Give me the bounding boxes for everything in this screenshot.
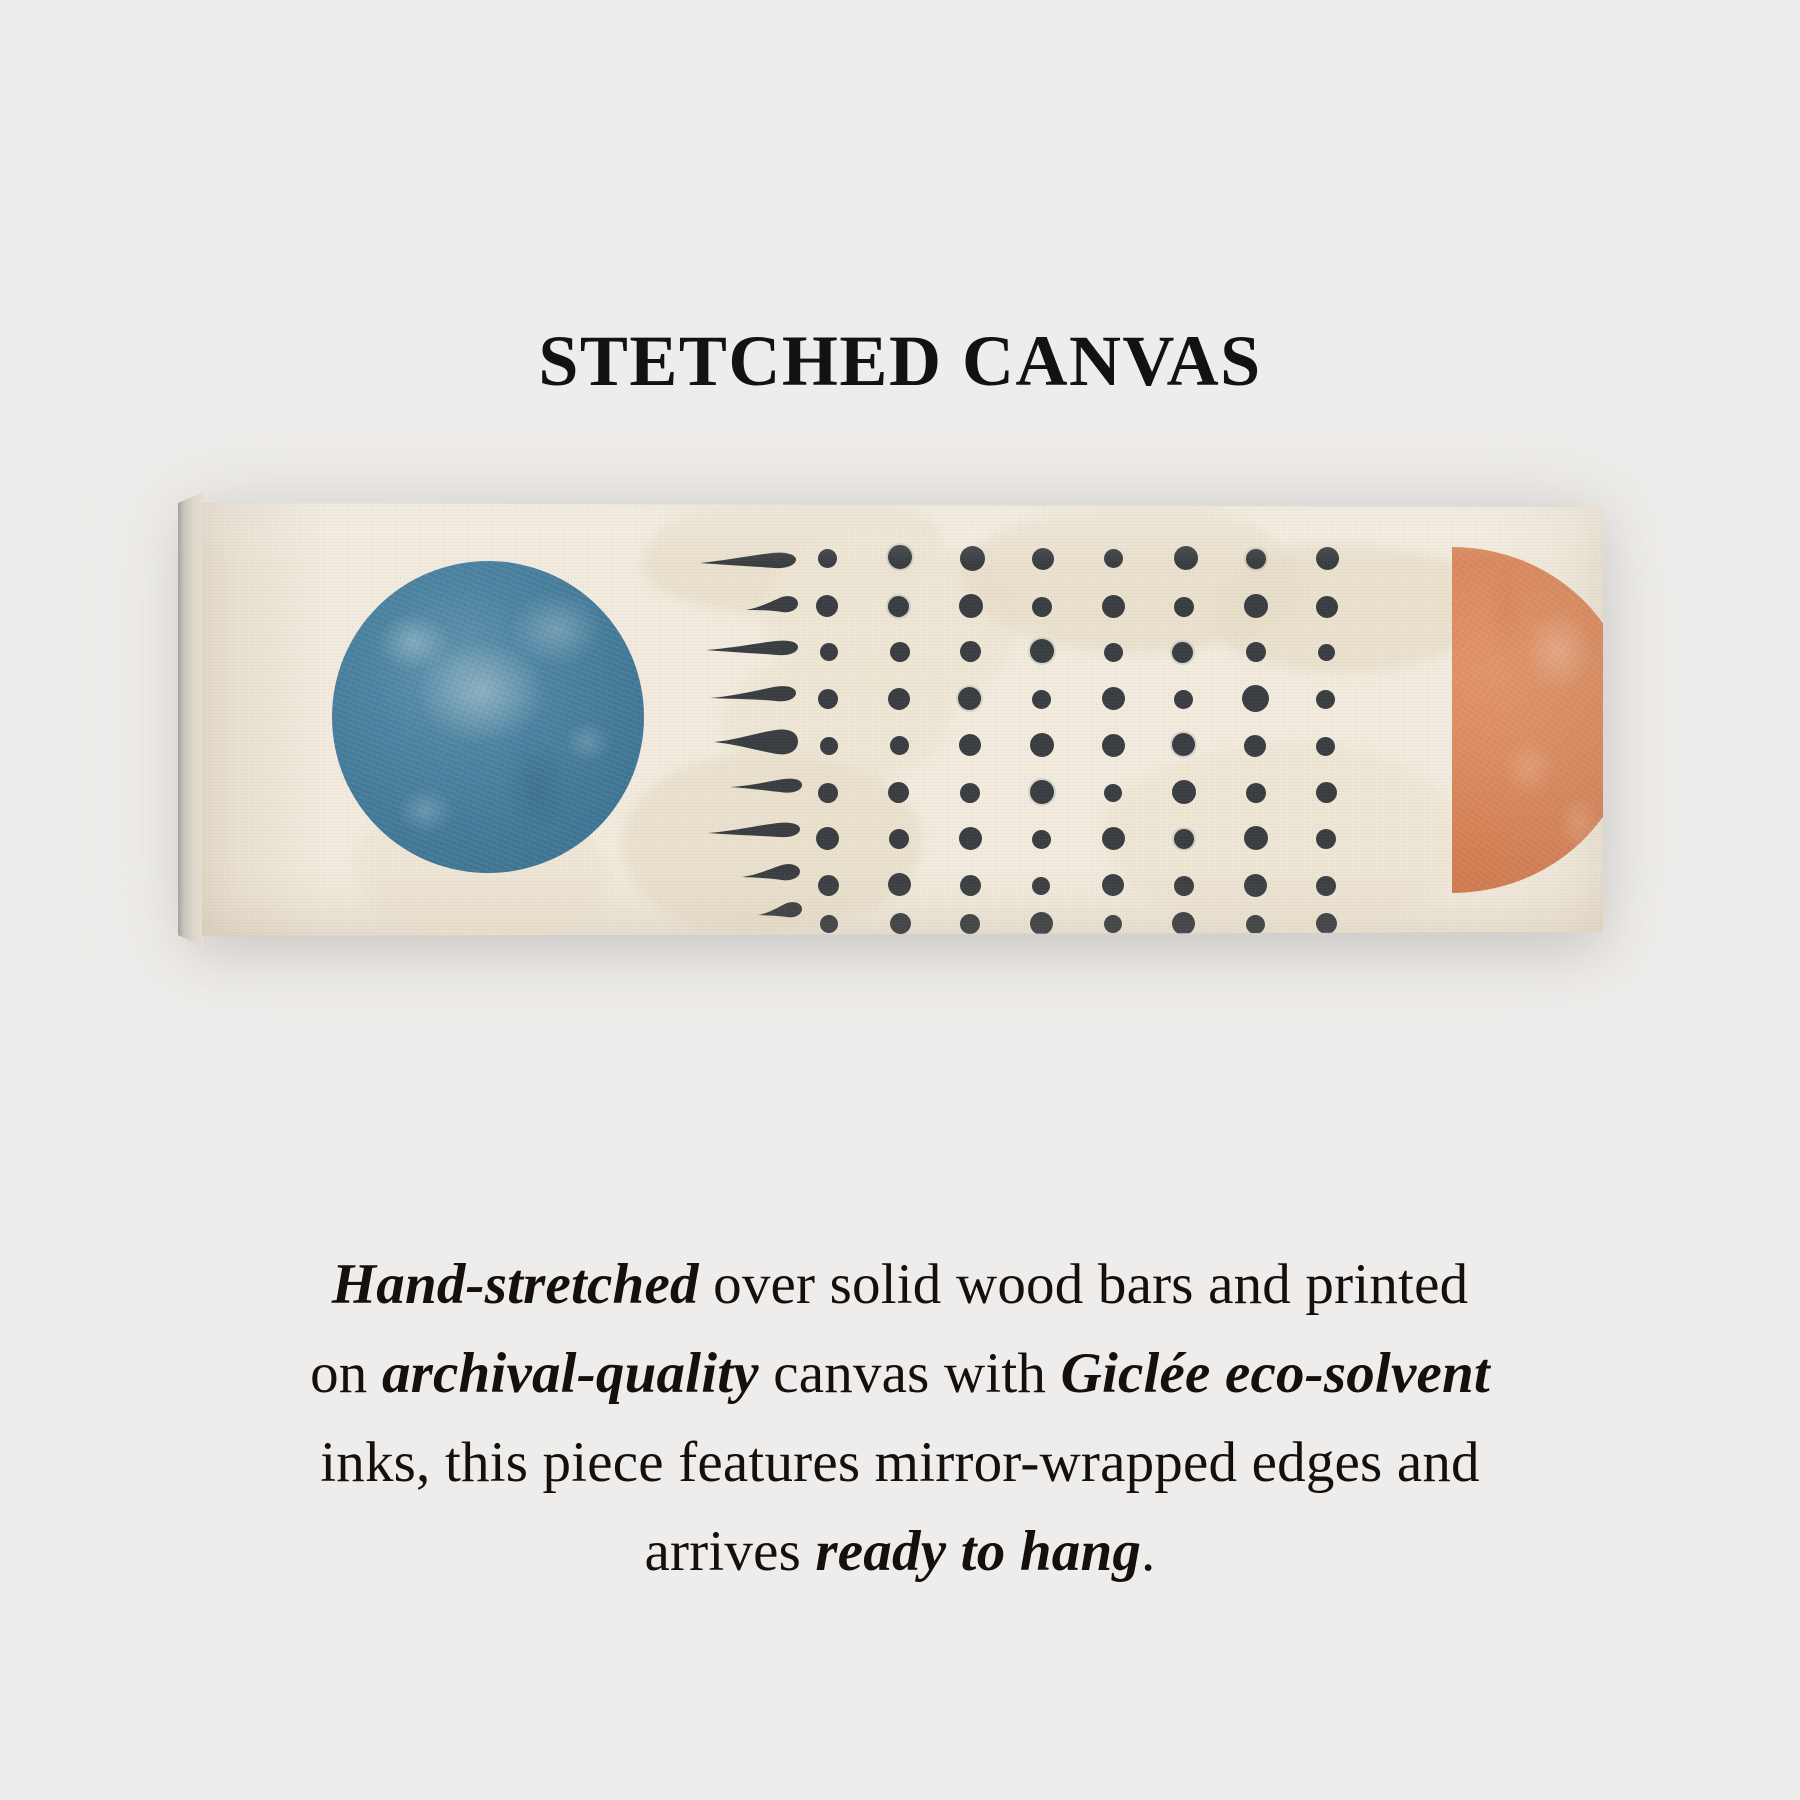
text-run: over solid wood bars and printed: [699, 1253, 1469, 1316]
grid-dot: [816, 827, 839, 850]
page-title-container: STETCHED CANVAS: [0, 276, 1800, 448]
text-run: on: [310, 1342, 382, 1405]
grid-dot: [888, 688, 910, 710]
text-run: arrives: [644, 1520, 815, 1583]
teardrop-mark: [700, 551, 796, 571]
text-run: canvas with: [759, 1342, 1061, 1405]
grid-dot: [889, 829, 909, 849]
grid-dot: [1242, 685, 1269, 712]
grid-dot: [1174, 690, 1193, 709]
grid-dot: [1316, 690, 1335, 709]
teardrop-mark: [706, 639, 798, 658]
grid-dot: [1032, 548, 1054, 570]
teardrop-mark: [710, 685, 796, 704]
grid-dot: [1032, 597, 1052, 617]
orange-half-disc-shape: [1452, 547, 1603, 893]
wash-blob: [1102, 743, 1462, 933]
grid-dot: [1172, 642, 1193, 663]
grid-dot: [1102, 595, 1125, 618]
grid-dot: [959, 827, 982, 850]
teardrop-mark: [742, 863, 800, 882]
teardrop-mark: [730, 777, 802, 795]
grid-dot: [818, 783, 838, 803]
grid-dot: [1102, 734, 1125, 757]
teardrop-mark: [746, 595, 798, 615]
grid-dot: [1032, 877, 1050, 895]
emphasis-run: ready to hang: [815, 1520, 1141, 1583]
grid-dot: [890, 736, 909, 755]
grid-dot: [1316, 782, 1337, 803]
canvas-mockup: [178, 492, 1603, 947]
canvas-printed-face: [202, 503, 1603, 936]
grid-dot: [1172, 780, 1196, 804]
emphasis-run: Giclée eco-solvent: [1061, 1342, 1490, 1405]
grid-dot: [1246, 642, 1266, 662]
grid-dot: [1032, 830, 1051, 849]
teardrop-mark: [714, 729, 798, 755]
grid-dot: [959, 734, 981, 756]
canvas-wrapped-edge: [178, 492, 204, 947]
grid-dot: [1246, 549, 1266, 569]
grid-dot: [1246, 783, 1266, 803]
grid-dot: [816, 595, 838, 617]
grid-dot: [888, 545, 912, 569]
grid-dot: [1244, 826, 1268, 850]
grid-dot: [1104, 643, 1123, 662]
blue-circle-shape: [332, 561, 644, 873]
text-run: .: [1141, 1520, 1155, 1583]
grid-dot: [820, 737, 838, 755]
grid-dot: [1030, 733, 1054, 757]
grid-dot: [818, 875, 839, 896]
emphasis-run: archival-quality: [382, 1342, 759, 1405]
product-card: STETCHED CANVAS: [0, 0, 1800, 1800]
grid-dot: [1244, 874, 1267, 897]
grid-dot: [1102, 874, 1124, 896]
grid-dot: [1316, 913, 1337, 934]
grid-dot: [960, 546, 985, 571]
grid-dot: [1244, 594, 1268, 618]
grid-dot: [888, 873, 911, 896]
grid-dot: [1032, 690, 1051, 709]
grid-dot: [1174, 829, 1194, 849]
grid-dot: [1102, 827, 1125, 850]
grid-dot: [960, 783, 980, 803]
grid-dot: [1172, 733, 1195, 756]
grid-dot: [1316, 737, 1335, 756]
grid-dot: [1104, 784, 1122, 802]
grid-dot: [820, 915, 838, 933]
grid-dot: [1174, 876, 1194, 896]
watercolor-grain: [332, 561, 644, 873]
grid-dot: [1030, 780, 1054, 804]
watercolor-grain: [1452, 547, 1603, 893]
grid-dot: [1174, 597, 1194, 617]
teardrop-mark: [708, 821, 800, 840]
grid-dot: [888, 596, 909, 617]
grid-dot: [1172, 912, 1195, 935]
grid-dot: [890, 913, 911, 934]
grid-dot: [818, 689, 838, 709]
product-description: Hand-stretched over solid wood bars and …: [130, 1240, 1670, 1596]
grid-dot: [890, 642, 910, 662]
teardrop-mark: [758, 901, 802, 919]
page-title: STETCHED CANVAS: [538, 324, 1261, 400]
grid-dot: [1316, 829, 1336, 849]
grid-dot: [1030, 639, 1054, 663]
grid-dot: [960, 875, 981, 896]
text-run: inks, this piece features mirror-wrapped…: [320, 1431, 1480, 1494]
grid-dot: [1246, 915, 1265, 934]
description-line: on archival-quality canvas with Giclée e…: [130, 1329, 1670, 1418]
grid-dot: [1316, 596, 1338, 618]
grid-dot: [959, 594, 983, 618]
grid-dot: [1104, 915, 1122, 933]
grid-dot: [958, 687, 981, 710]
grid-dot: [1030, 912, 1053, 935]
description-line: Hand-stretched over solid wood bars and …: [130, 1240, 1670, 1329]
grid-dot: [1174, 546, 1198, 570]
grid-dot: [1318, 644, 1335, 661]
description-line: inks, this piece features mirror-wrapped…: [130, 1418, 1670, 1507]
grid-dot: [1316, 876, 1336, 896]
emphasis-run: Hand-stretched: [332, 1253, 699, 1316]
grid-dot: [960, 641, 981, 662]
grid-dot: [1104, 549, 1123, 568]
grid-dot: [1244, 735, 1266, 757]
grid-dot: [888, 782, 909, 803]
grid-dot: [820, 643, 838, 661]
grid-dot: [960, 914, 980, 934]
grid-dot: [818, 549, 837, 568]
grid-dot: [1102, 687, 1125, 710]
description-line: arrives ready to hang.: [130, 1507, 1670, 1596]
grid-dot: [1316, 547, 1339, 570]
